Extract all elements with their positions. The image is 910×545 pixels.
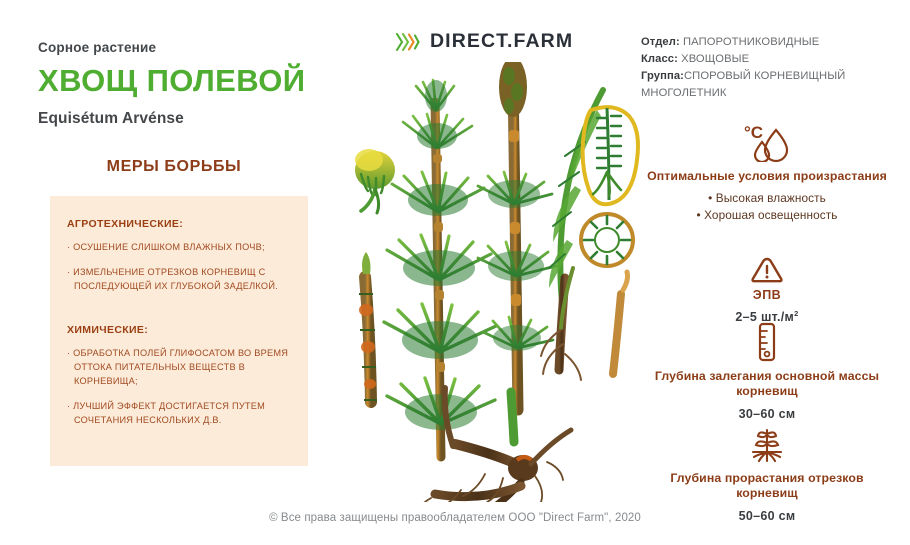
measures-title: МЕРЫ БОРЬБЫ	[38, 158, 310, 176]
logo-text: DIRECT.FARM	[430, 30, 573, 53]
taxonomy-label: Группа:	[641, 70, 684, 82]
info-title: Глубина прорастания отрезков корневищ	[641, 471, 893, 502]
info-bullet: • Хорошая освещенность	[641, 207, 893, 224]
taxonomy-value: ХВОЩОВЫЕ	[678, 53, 749, 65]
header-block: Сорное растение ХВОЩ ПОЛЕВОЙ Equisétum A…	[38, 40, 338, 128]
measures-item: · ОСУШЕНИЕ СЛИШКОМ ВЛАЖНЫХ ПОЧВ;	[67, 241, 292, 255]
taxonomy-value: ПАПОРОТНИКОВИДНЫЕ	[680, 36, 820, 48]
weed-kicker: Сорное растение	[38, 40, 338, 55]
taxonomy-label: Класс:	[641, 53, 678, 65]
spring-shoot	[359, 252, 377, 402]
taxonomy-row-group: Группа:СПОРОВЫЙ КОРНЕВИЩНЫЙ МНОГОЛЕТНИК	[641, 68, 893, 102]
spore-head	[355, 149, 395, 213]
measures-item: · ОБРАБОТКА ПОЛЕЙ ГЛИФОСАТОМ ВО ВРЕМЯ ОТ…	[67, 347, 292, 389]
fertile-stem-strobilus	[478, 62, 556, 442]
taxonomy-row-class: Класс: ХВОЩОВЫЕ	[641, 51, 893, 68]
measures-item: · ЛУЧШИЙ ЭФФЕКТ ДОСТИГАЕТСЯ ПУТЕМ СОЧЕТА…	[67, 400, 292, 428]
temperature-droplet-icon: °C	[641, 122, 893, 162]
measures-heading-agro: АГРОТЕХНИЧЕСКИЕ:	[67, 218, 292, 230]
svg-text:°C: °C	[744, 123, 763, 142]
vegetative-shoot-main	[384, 80, 496, 457]
measures-item: · ИЗМЕЛЬЧЕНИЕ ОТРЕЗКОВ КОРНЕВИЩ С ПОСЛЕД…	[67, 266, 292, 294]
info-title: Оптимальные условия произрастания	[641, 169, 893, 184]
measures-heading-chem: ХИМИЧЕСКИЕ:	[67, 324, 292, 336]
ruler-icon	[641, 322, 893, 362]
sprout-roots-icon	[641, 424, 893, 464]
info-block-rhizome-depth: Глубина залегания основной массы корневи…	[641, 322, 893, 421]
warning-triangle-icon	[641, 247, 893, 287]
taxonomy-block: Отдел: ПАПОРОТНИКОВИДНЫЕ Класс: ХВОЩОВЫЕ…	[641, 34, 893, 102]
copyright-footer: © Все права защищены правообладателем ОО…	[0, 512, 910, 524]
threshold-value-sup: 2	[794, 309, 798, 318]
info-value: 30–60 см	[641, 407, 893, 421]
horsetail-illustration	[335, 62, 645, 502]
taxonomy-row-division: Отдел: ПАПОРОТНИКОВИДНЫЕ	[641, 34, 893, 51]
infographic-page: Сорное растение ХВОЩ ПОЛЕВОЙ Equisétum A…	[0, 0, 910, 545]
info-block-threshold: ЭПВ 2–5 шт./м2	[641, 247, 893, 324]
info-bullet: • Высокая влажность	[641, 190, 893, 207]
info-block-optimal-conditions: °C Оптимальные условия произрастания • В…	[641, 122, 893, 224]
info-block-germination-depth: Глубина прорастания отрезков корневищ 50…	[641, 424, 893, 523]
info-bullets: • Высокая влажность • Хорошая освещеннос…	[641, 190, 893, 224]
threshold-label: ЭПВ	[641, 288, 893, 302]
rhizome-segment	[541, 268, 628, 380]
chevron-stripes-icon	[395, 31, 421, 53]
taxonomy-label: Отдел:	[641, 36, 680, 48]
stem-cross-section-diagram	[581, 214, 633, 266]
measures-panel: АГРОТЕХНИЧЕСКИЕ: · ОСУШЕНИЕ СЛИШКОМ ВЛАЖ…	[50, 196, 308, 466]
latin-name: Equisétum Arvénse	[38, 110, 338, 128]
brand-logo[interactable]: DIRECT.FARM	[395, 30, 573, 53]
page-title: ХВОЩ ПОЛЕВОЙ	[38, 64, 338, 99]
info-title: Глубина залегания основной массы корневи…	[641, 369, 893, 400]
